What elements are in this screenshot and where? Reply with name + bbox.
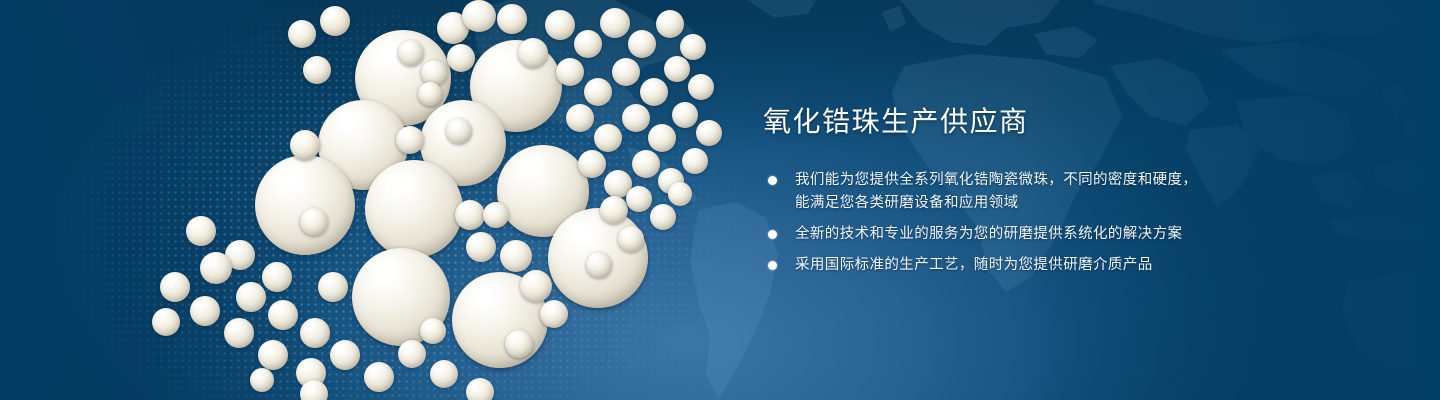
promo-banner: 氧化锆珠生产供应商 我们能为您提供全系列氧化锆陶瓷微珠，不同的密度和硬度， 能满…	[0, 0, 1440, 400]
banner-copy: 氧化锆珠生产供应商 我们能为您提供全系列氧化锆陶瓷微珠，不同的密度和硬度， 能满…	[763, 105, 1233, 277]
feature-list: 我们能为您提供全系列氧化锆陶瓷微珠，不同的密度和硬度， 能满足您各类研磨设备和应…	[763, 169, 1233, 277]
bullet-dot-icon	[768, 176, 777, 185]
list-item-line: 能满足您各类研磨设备和应用领域	[795, 192, 1233, 215]
bullet-dot-icon	[768, 230, 777, 239]
list-item: 我们能为您提供全系列氧化锆陶瓷微珠，不同的密度和硬度， 能满足您各类研磨设备和应…	[763, 169, 1233, 215]
list-item: 采用国际标准的生产工艺，随时为您提供研磨介质产品	[763, 254, 1233, 277]
list-item: 全新的技术和专业的服务为您的研磨提供系统化的解决方案	[763, 223, 1233, 246]
background-left-fade	[0, 0, 330, 400]
list-item-line: 全新的技术和专业的服务为您的研磨提供系统化的解决方案	[795, 223, 1233, 246]
page-title: 氧化锆珠生产供应商	[763, 105, 1233, 139]
bullet-dot-icon	[768, 261, 777, 270]
list-item-line: 我们能为您提供全系列氧化锆陶瓷微珠，不同的密度和硬度，	[795, 169, 1233, 192]
list-item-line: 采用国际标准的生产工艺，随时为您提供研磨介质产品	[795, 254, 1233, 277]
